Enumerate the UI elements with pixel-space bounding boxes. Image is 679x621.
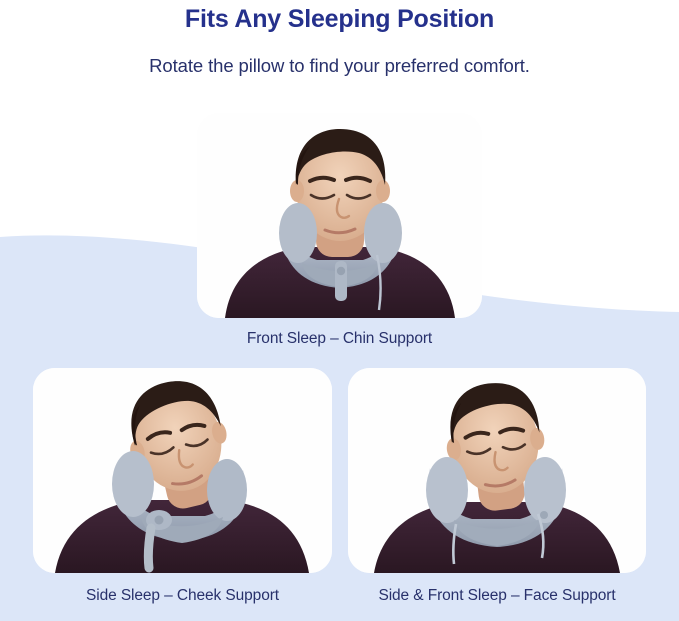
photo-front-sleep — [197, 113, 482, 318]
card-side-sleep[interactable] — [33, 368, 332, 573]
caption-front-sleep: Front Sleep – Chin Support — [197, 328, 482, 350]
photo-side-front-sleep — [348, 368, 646, 573]
header: Fits Any Sleeping Position Rotate the pi… — [0, 0, 679, 79]
card-side-front-sleep[interactable] — [348, 368, 646, 573]
product-feature-panel: Fits Any Sleeping Position Rotate the pi… — [0, 0, 679, 621]
caption-side-sleep: Side Sleep – Cheek Support — [33, 585, 332, 607]
caption-side-front-sleep: Side & Front Sleep – Face Support — [348, 585, 646, 607]
photo-side-sleep — [33, 368, 332, 573]
page-title: Fits Any Sleeping Position — [0, 0, 679, 36]
page-subtitle: Rotate the pillow to find your preferred… — [0, 36, 679, 79]
card-front-sleep[interactable] — [197, 113, 482, 318]
